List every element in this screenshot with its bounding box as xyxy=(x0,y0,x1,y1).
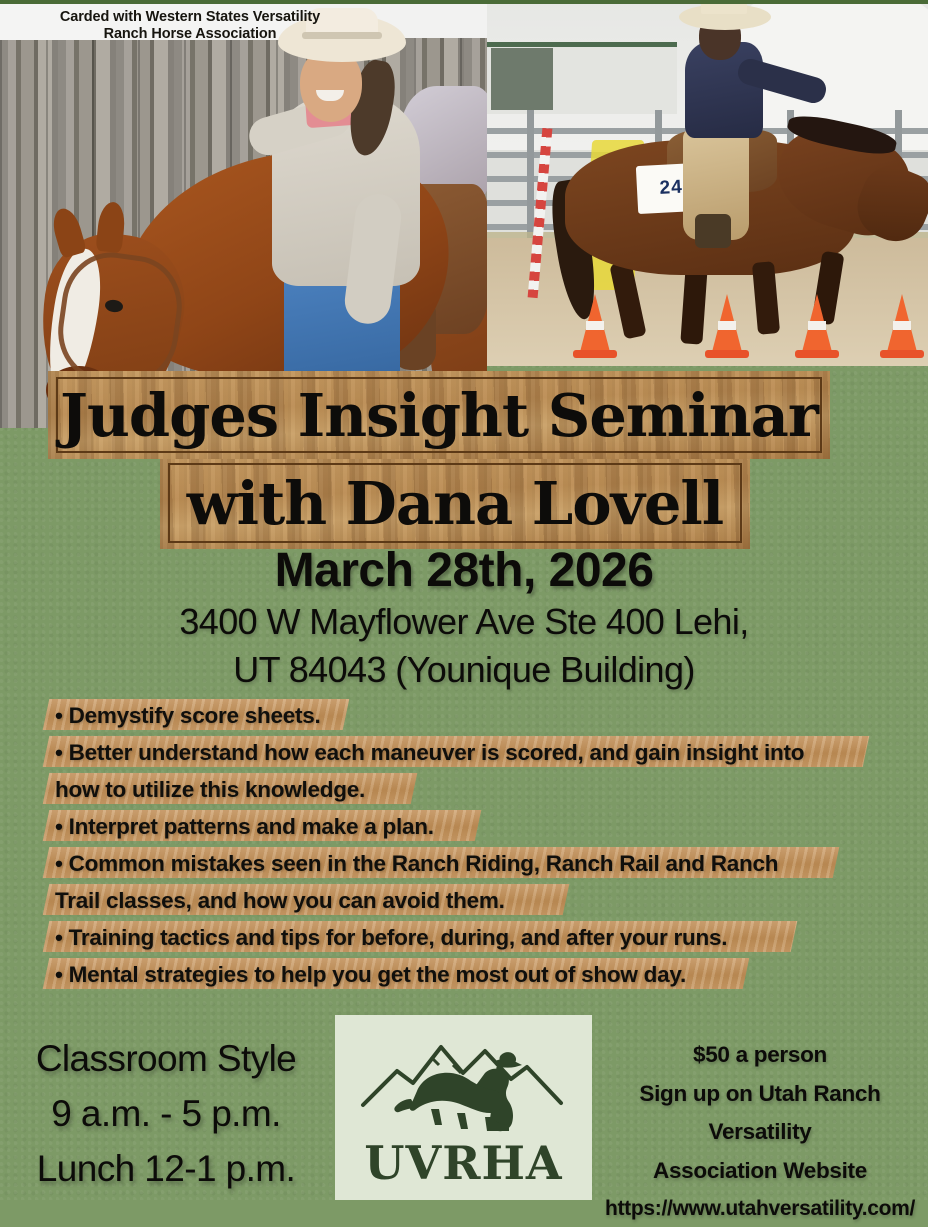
photo-woman-with-chestnut-horse xyxy=(0,4,487,428)
schedule-hours: 9 a.m. - 5 p.m. xyxy=(6,1087,326,1142)
rider-boot xyxy=(695,214,731,248)
topic-row: • Mental strategies to help you get the … xyxy=(0,956,928,993)
topic-row: Trail classes, and how you can avoid the… xyxy=(0,882,928,919)
topic-row: • Interpret patterns and make a plan. xyxy=(0,808,928,845)
registration-price: $50 a person xyxy=(592,1036,928,1075)
topic-row: • Common mistakes seen in the Ranch Ridi… xyxy=(0,845,928,882)
uvrha-logo: UVRHA xyxy=(335,1015,592,1200)
topic-label: • Mental strategies to help you get the … xyxy=(55,962,686,988)
schedule-style: Classroom Style xyxy=(6,1032,326,1087)
topic-label: • Common mistakes seen in the Ranch Ridi… xyxy=(55,851,778,877)
schedule-lunch: Lunch 12-1 p.m. xyxy=(6,1142,326,1197)
barn-shaded-opening xyxy=(491,48,553,110)
registration-signup-line1: Sign up on Utah Ranch Versatility xyxy=(592,1075,928,1152)
photo-rider-in-arena-with-cones: 242 xyxy=(487,0,928,366)
event-address-line2: UT 84043 (Younique Building) xyxy=(0,649,928,691)
header-caption-line1: Carded with Western States Versatility xyxy=(0,9,380,26)
title-banner-primary: Judges Insight Seminar xyxy=(48,371,830,459)
topic-label: • Interpret patterns and make a plan. xyxy=(55,814,434,840)
uvrha-wordmark: UVRHA xyxy=(335,1136,592,1190)
topic-text: how to utilize this knowledge. xyxy=(0,771,928,808)
topic-text: • Demystify score sheets. xyxy=(0,697,928,734)
poster-canvas: 242 Carded with Western States Versatili… xyxy=(0,0,928,1200)
topic-text: Trail classes, and how you can avoid the… xyxy=(0,882,928,919)
page-title-line1: Judges Insight Seminar xyxy=(48,371,830,459)
header-caption-line2: Ranch Horse Association xyxy=(0,26,380,43)
registration-block: $50 a person Sign up on Utah Ranch Versa… xyxy=(592,1036,928,1227)
topic-label: Trail classes, and how you can avoid the… xyxy=(55,888,505,914)
event-date: March 28th, 2026 xyxy=(0,543,928,598)
event-address-line1: 3400 W Mayflower Ave Ste 400 Lehi, xyxy=(0,601,928,643)
topic-text: • Interpret patterns and make a plan. xyxy=(0,808,928,845)
topic-text: • Common mistakes seen in the Ranch Ridi… xyxy=(0,845,928,882)
topic-text: • Mental strategies to help you get the … xyxy=(0,956,928,993)
topic-row: how to utilize this knowledge. xyxy=(0,771,928,808)
topic-text: • Better understand how each maneuver is… xyxy=(0,734,928,771)
topic-text: • Training tactics and tips for before, … xyxy=(0,919,928,956)
mountain-and-cowboy-icon xyxy=(335,1021,592,1136)
topic-row: • Demystify score sheets. xyxy=(0,697,928,734)
registration-signup-line2: Association Website xyxy=(592,1152,928,1191)
schedule-block: Classroom Style 9 a.m. - 5 p.m. Lunch 12… xyxy=(6,1032,326,1196)
topics-list: • Demystify score sheets.• Better unders… xyxy=(0,697,928,993)
topic-label: • Better understand how each maneuver is… xyxy=(55,740,804,766)
topic-label: • Demystify score sheets. xyxy=(55,703,321,729)
title-banner-secondary: with Dana Lovell xyxy=(160,457,750,549)
page-title-line2: with Dana Lovell xyxy=(160,457,750,549)
topic-label: • Training tactics and tips for before, … xyxy=(55,925,727,951)
top-rule-divider xyxy=(0,0,928,4)
topic-row: • Better understand how each maneuver is… xyxy=(0,734,928,771)
registration-url[interactable]: https://www.utahversatility.com/ xyxy=(592,1191,928,1227)
topic-row: • Training tactics and tips for before, … xyxy=(0,919,928,956)
topic-label: how to utilize this knowledge. xyxy=(55,777,365,803)
header-caption: Carded with Western States Versatility R… xyxy=(0,9,380,43)
